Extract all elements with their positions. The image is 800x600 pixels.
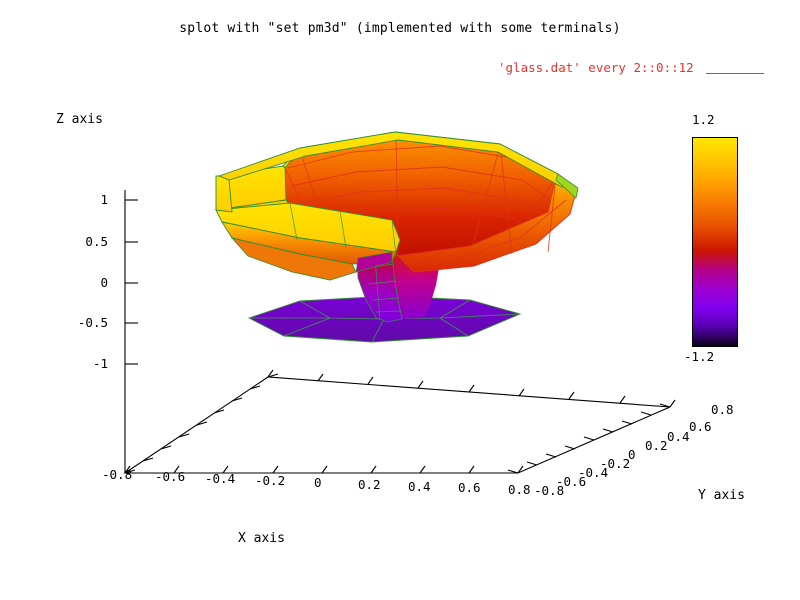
pm3d-surface	[216, 132, 578, 342]
y-tick-label-0.4: 0.4	[667, 431, 690, 444]
x-tick-label-neg0.4: -0.4	[205, 473, 235, 486]
x-tick-label-neg0.8: -0.8	[102, 469, 132, 482]
z-tick-label-neg1: -1	[48, 358, 108, 371]
x-tick-label-0.8: 0.8	[508, 484, 531, 497]
y-tick-label-neg0.2: -0.2	[600, 458, 630, 471]
y-tick-label-0.6: 0.6	[689, 421, 712, 434]
z-tick-label-1: 1	[48, 194, 108, 207]
base-plane-outline	[125, 377, 670, 473]
x-axis-ticks-back	[268, 370, 675, 407]
y-tick-label-0: 0	[628, 449, 636, 462]
plot-vector-layer	[0, 0, 800, 600]
x-tick-label-neg0.2: -0.2	[255, 475, 285, 488]
y-tick-label-0.2: 0.2	[645, 440, 668, 453]
z-axis-ticks	[125, 200, 138, 364]
x-tick-label-neg0.6: -0.6	[155, 471, 185, 484]
y-tick-label-0.8: 0.8	[711, 404, 734, 417]
x-tick-label-0.6: 0.6	[458, 482, 481, 495]
x-tick-label-0: 0	[314, 477, 322, 490]
z-tick-label-0: 0	[48, 277, 108, 290]
x-tick-label-0.2: 0.2	[358, 479, 381, 492]
z-tick-label-neg0.5: -0.5	[48, 317, 108, 330]
gnuplot-plot-canvas: splot with "set pm3d" (implemented with …	[0, 0, 800, 600]
z-tick-label-0.5: 0.5	[48, 236, 108, 249]
x-tick-label-0.4: 0.4	[408, 481, 431, 494]
